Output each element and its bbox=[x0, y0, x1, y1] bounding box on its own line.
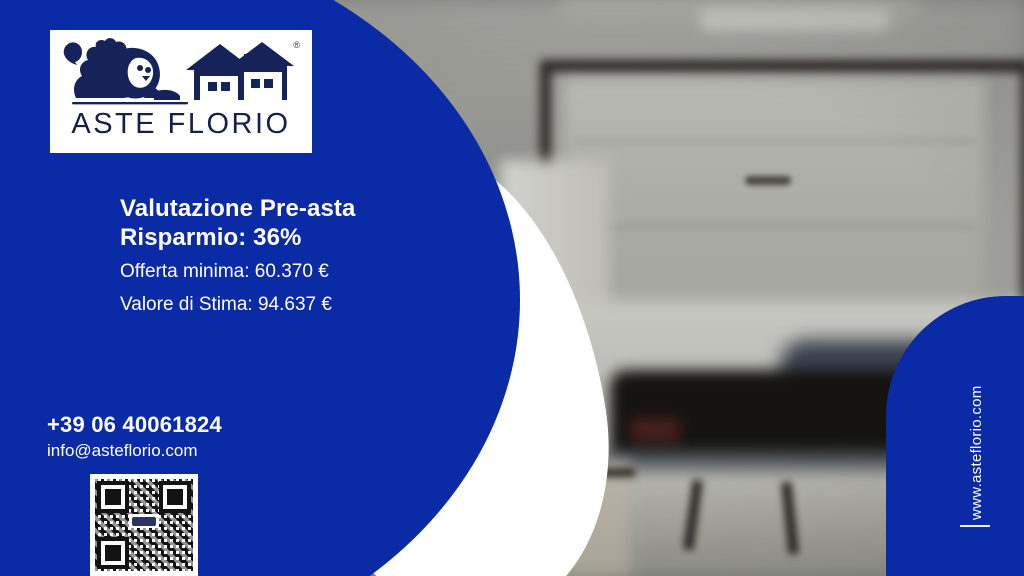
headline-line-1: Valutazione Pre-asta bbox=[120, 194, 460, 223]
qr-finder-icon bbox=[97, 537, 129, 569]
email-address[interactable]: info@asteflorio.com bbox=[47, 441, 222, 461]
qr-code[interactable] bbox=[90, 474, 198, 576]
qr-finder-icon bbox=[97, 481, 129, 513]
promo-banner: www.asteflorio.com bbox=[0, 0, 1024, 576]
qr-code-matrix bbox=[95, 479, 193, 571]
website-url[interactable]: www.asteflorio.com bbox=[968, 385, 985, 520]
registered-trademark-icon: ® bbox=[293, 40, 300, 50]
brand-name: ASTE FLORIO bbox=[71, 110, 290, 139]
qr-finder-icon bbox=[159, 481, 191, 513]
logo-artwork: ® bbox=[58, 34, 304, 112]
website-underline bbox=[960, 525, 990, 527]
headline-line-2: Risparmio: 36% bbox=[120, 223, 460, 252]
brand-logo: ® ASTE FLORIO bbox=[50, 30, 312, 153]
qr-embedded-logo-icon bbox=[129, 514, 159, 528]
lion-and-houses-icon bbox=[58, 34, 304, 112]
valuation-copy: Valutazione Pre-asta Risparmio: 36% Offe… bbox=[120, 194, 460, 318]
website-url-wrap: www.asteflorio.com bbox=[968, 520, 988, 540]
contact-block: +39 06 40061824 info@asteflorio.com bbox=[47, 412, 222, 461]
estimated-value: Valore di Stima: 94.637 € bbox=[120, 292, 460, 319]
phone-number[interactable]: +39 06 40061824 bbox=[47, 412, 222, 438]
minimum-offer: Offerta minima: 60.370 € bbox=[120, 259, 460, 286]
